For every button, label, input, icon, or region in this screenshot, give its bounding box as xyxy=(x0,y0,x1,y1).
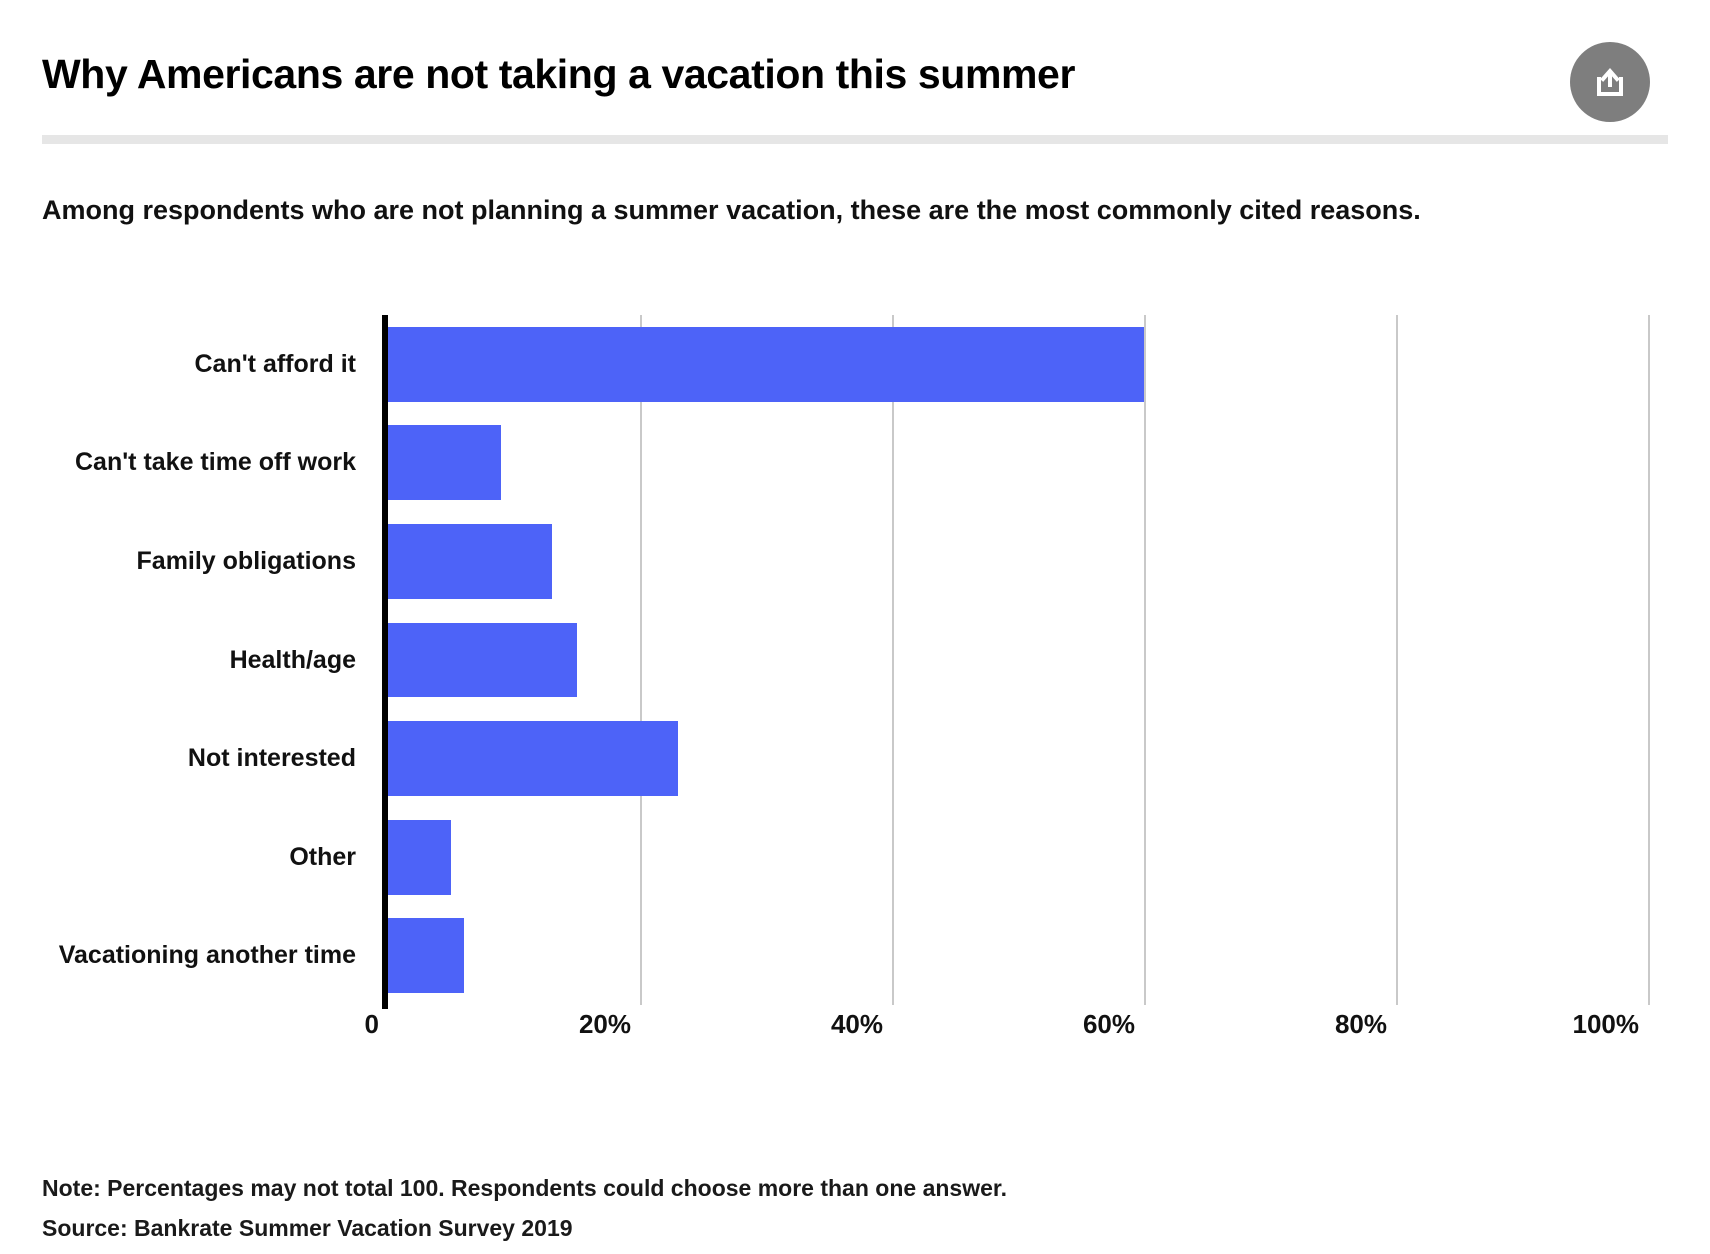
y-axis-label: Vacationing another time xyxy=(42,906,372,1005)
x-axis-tick-label: 60% xyxy=(1083,1009,1144,1040)
footnote-source: Source: Bankrate Summer Vacation Survey … xyxy=(42,1208,1442,1248)
x-axis-tick-label: 40% xyxy=(831,1009,892,1040)
x-axis-tick-label: 100% xyxy=(1573,1009,1649,1040)
x-axis-tick-label: 0 xyxy=(365,1009,388,1040)
gridline xyxy=(1648,315,1650,1005)
footnote-note: Note: Percentages may not total 100. Res… xyxy=(42,1168,1442,1208)
bar-series xyxy=(388,315,1648,1005)
bar[interactable] xyxy=(388,721,678,796)
bar[interactable] xyxy=(388,623,577,698)
bar-row[interactable] xyxy=(388,709,1648,808)
bar-row[interactable] xyxy=(388,512,1648,611)
y-axis-label: Can't afford it xyxy=(42,315,372,414)
page-title: Why Americans are not taking a vacation … xyxy=(42,50,1668,98)
bar[interactable] xyxy=(388,425,501,500)
plot-area xyxy=(388,315,1648,1005)
y-axis-label: Health/age xyxy=(42,611,372,710)
x-axis-tick-labels: 020%40%60%80%100% xyxy=(388,1005,1648,1045)
bar-row[interactable] xyxy=(388,808,1648,907)
x-axis-tick-label: 80% xyxy=(1335,1009,1396,1040)
chart-subtitle: Among respondents who are not planning a… xyxy=(42,192,1642,228)
bar-row[interactable] xyxy=(388,414,1648,513)
y-axis-category-labels: Can't afford itCan't take time off workF… xyxy=(42,315,372,1005)
y-axis-label: Family obligations xyxy=(42,512,372,611)
bar[interactable] xyxy=(388,524,552,599)
bar-row[interactable] xyxy=(388,315,1648,414)
bar[interactable] xyxy=(388,327,1144,402)
y-axis-label: Can't take time off work xyxy=(42,414,372,513)
header-divider xyxy=(42,135,1668,144)
bar[interactable] xyxy=(388,820,451,895)
bar-chart: Can't afford itCan't take time off workF… xyxy=(42,285,1682,1045)
bar[interactable] xyxy=(388,918,464,993)
footnotes: Note: Percentages may not total 100. Res… xyxy=(42,1168,1442,1248)
share-export-icon[interactable] xyxy=(1570,42,1650,122)
infographic-page: Why Americans are not taking a vacation … xyxy=(0,0,1710,1254)
x-axis-tick-label: 20% xyxy=(579,1009,640,1040)
bar-row[interactable] xyxy=(388,611,1648,710)
y-axis-label: Other xyxy=(42,808,372,907)
bar-row[interactable] xyxy=(388,906,1648,1005)
y-axis-label: Not interested xyxy=(42,709,372,808)
header: Why Americans are not taking a vacation … xyxy=(42,50,1668,142)
